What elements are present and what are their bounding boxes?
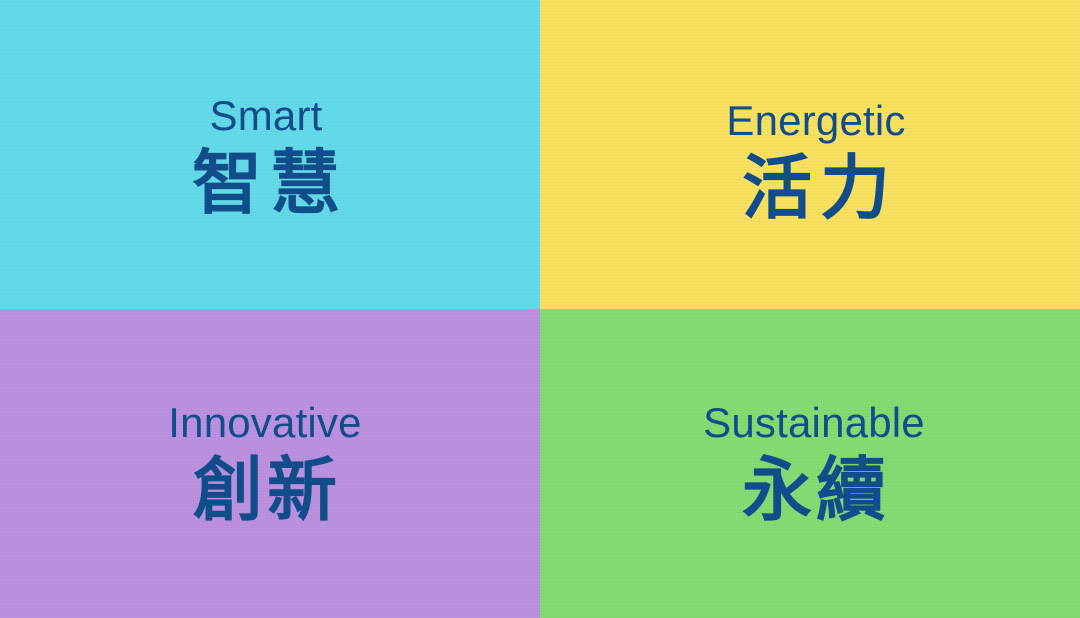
value-card-innovative-label-en: Innovative (168, 402, 361, 445)
value-card-energetic-label-zh: 活力 (734, 149, 898, 227)
value-card-energetic-text: Energetic 活力 (726, 100, 905, 227)
value-card-sustainable-label-zh: 永續 (738, 451, 890, 529)
value-card-energetic[interactable]: Energetic 活力 (540, 0, 1080, 309)
values-grid: Smart 智慧 Energetic 活力 Innovative 創新 Sust… (0, 0, 1080, 618)
value-card-smart-text: Smart 智慧 (184, 95, 348, 222)
value-card-smart[interactable]: Smart 智慧 (0, 0, 540, 309)
value-card-smart-label-zh: 智慧 (184, 144, 348, 222)
value-card-innovative-label-zh: 創新 (189, 451, 341, 529)
value-card-innovative-text: Innovative 創新 (168, 402, 361, 529)
value-card-energetic-label-en: Energetic (726, 100, 905, 143)
value-card-sustainable-label-en: Sustainable (703, 402, 925, 445)
value-card-innovative[interactable]: Innovative 創新 (0, 309, 540, 618)
value-card-sustainable[interactable]: Sustainable 永續 (540, 309, 1080, 618)
value-card-smart-label-en: Smart (209, 95, 322, 138)
value-card-sustainable-text: Sustainable 永續 (703, 402, 925, 529)
brand-values-poster: Smart 智慧 Energetic 活力 Innovative 創新 Sust… (0, 0, 1080, 618)
